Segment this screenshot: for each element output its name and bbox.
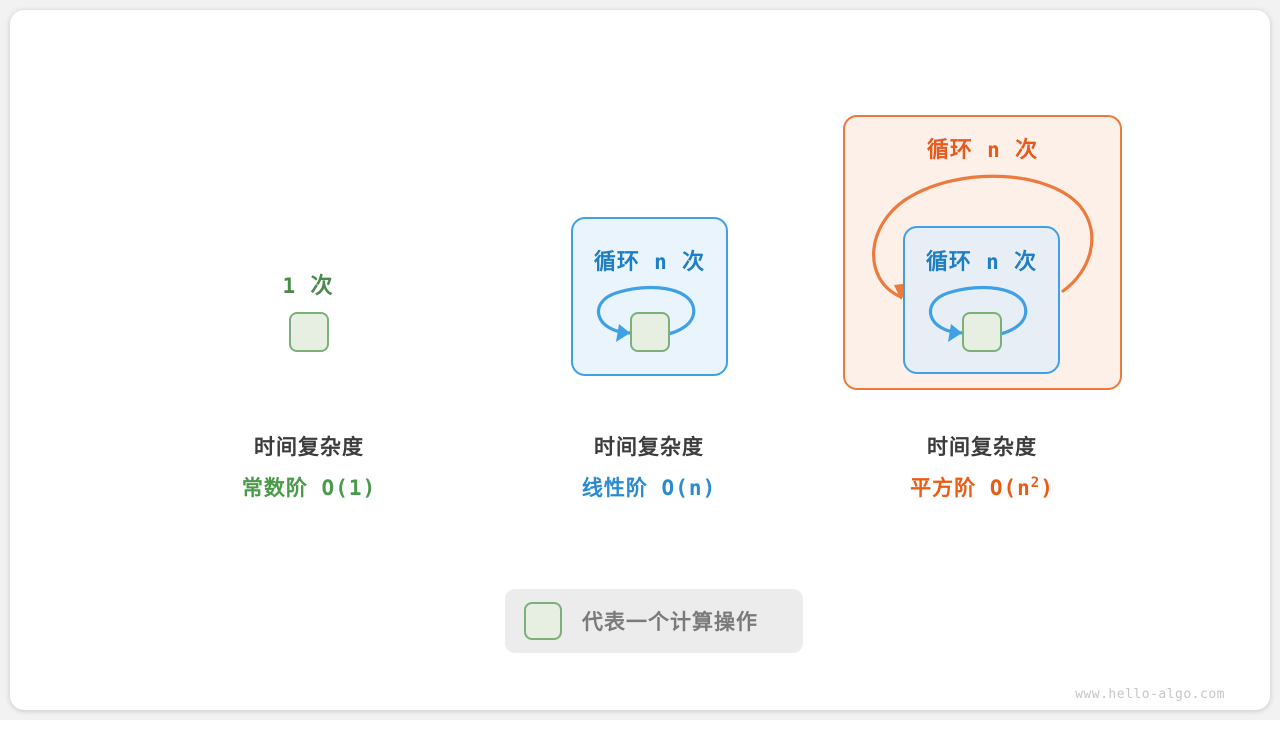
label-title: 时间复杂度 (861, 436, 1103, 459)
legend-operation-swatch (524, 602, 562, 640)
label-group-quadratic: 时间复杂度 平方阶 O(n2) (861, 436, 1103, 500)
complexity-order: 平方阶 (910, 477, 976, 500)
complexity-order: 线性阶 (582, 477, 648, 500)
label-title: 时间复杂度 (188, 436, 430, 459)
label-title: 时间复杂度 (528, 436, 770, 459)
operation-box (962, 312, 1002, 352)
complexity-order: 常数阶 (242, 477, 308, 500)
complexity-notation: O(n) (662, 476, 717, 500)
label-complexity: 平方阶 O(n2) (861, 477, 1103, 500)
legend-label: 代表一个计算操作 (582, 606, 758, 636)
diagram-canvas: 1 次 循环 n 次 (0, 0, 1280, 720)
complexity-notation: O(n2) (990, 476, 1054, 500)
label-group-constant: 时间复杂度 常数阶 O(1) (188, 436, 430, 500)
diagram-card: 1 次 循环 n 次 (10, 10, 1270, 710)
legend: 代表一个计算操作 (505, 589, 803, 653)
watermark: www.hello-algo.com (1075, 687, 1225, 702)
label-complexity: 常数阶 O(1) (188, 477, 430, 500)
complexity-notation: O(1) (322, 476, 377, 500)
label-complexity: 线性阶 O(n) (528, 477, 770, 500)
label-group-linear: 时间复杂度 线性阶 O(n) (528, 436, 770, 500)
